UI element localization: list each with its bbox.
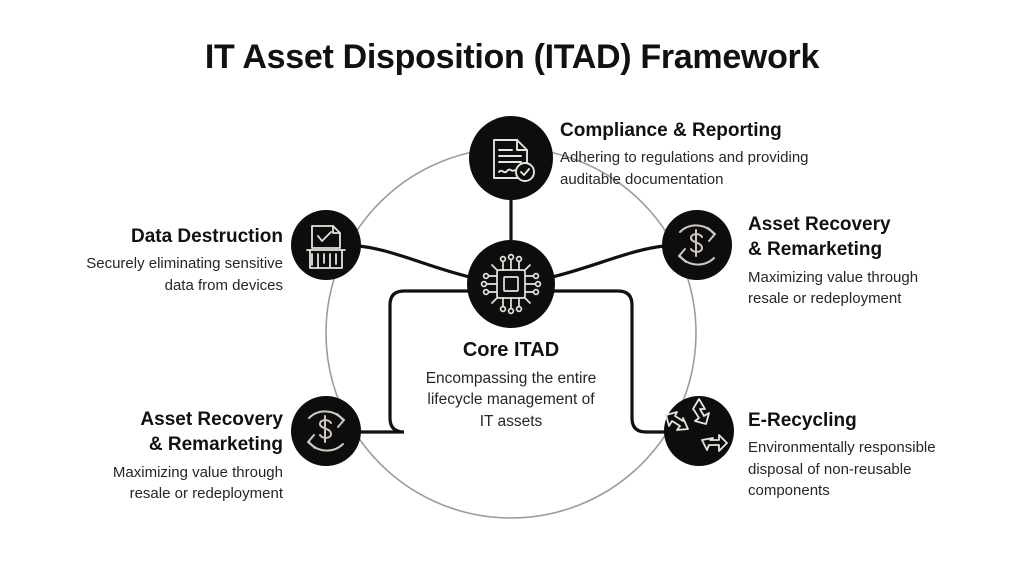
label-asset-recovery-right: Asset Recovery & Remarketing Maximizing … [748, 212, 1016, 309]
node-core-itad[interactable] [467, 240, 555, 328]
connector-center-data-destruction [359, 246, 474, 278]
label-asset-recovery-left-description: Maximizing value through resale or redep… [28, 462, 283, 505]
label-compliance-description: Adhering to regulations and providing au… [560, 147, 860, 190]
label-data-destruction: Data Destruction Securely eliminating se… [28, 224, 283, 296]
label-asset-recovery-right-title: Asset Recovery & Remarketing [748, 212, 1016, 263]
label-core-itad-title: Core ITAD [391, 337, 631, 364]
node-core-itad-circle[interactable] [467, 240, 555, 328]
label-data-destruction-title: Data Destruction [28, 224, 283, 249]
label-e-recycling-description: Environmentally responsible disposal of … [748, 437, 1010, 501]
node-data-destruction-circle[interactable] [291, 210, 361, 280]
label-core-itad-description: Encompassing the entire lifecycle manage… [391, 368, 631, 433]
label-compliance-title: Compliance & Reporting [560, 118, 860, 143]
node-asset-recovery-left[interactable] [291, 396, 361, 466]
label-data-destruction-description: Securely eliminating sensitive data from… [28, 253, 283, 296]
node-e-recycling[interactable] [664, 396, 734, 466]
label-asset-recovery-left: Asset Recovery & Remarketing Maximizing … [28, 407, 283, 504]
label-e-recycling-title: E-Recycling [748, 408, 1010, 433]
label-asset-recovery-right-description: Maximizing value through resale or redep… [748, 267, 1016, 310]
label-core-itad: Core ITAD Encompassing the entire lifecy… [391, 337, 631, 433]
label-asset-recovery-left-title: Asset Recovery & Remarketing [28, 407, 283, 458]
label-e-recycling: E-Recycling Environmentally responsible … [748, 408, 1010, 501]
node-asset-recovery-right[interactable] [662, 210, 732, 280]
node-e-recycling-circle[interactable] [664, 396, 734, 466]
label-compliance-reporting: Compliance & Reporting Adhering to regul… [560, 118, 860, 190]
node-compliance[interactable] [469, 116, 553, 200]
node-compliance-circle[interactable] [469, 116, 553, 200]
connector-center-asset-right [548, 246, 664, 278]
node-data-destruction[interactable] [291, 210, 361, 280]
